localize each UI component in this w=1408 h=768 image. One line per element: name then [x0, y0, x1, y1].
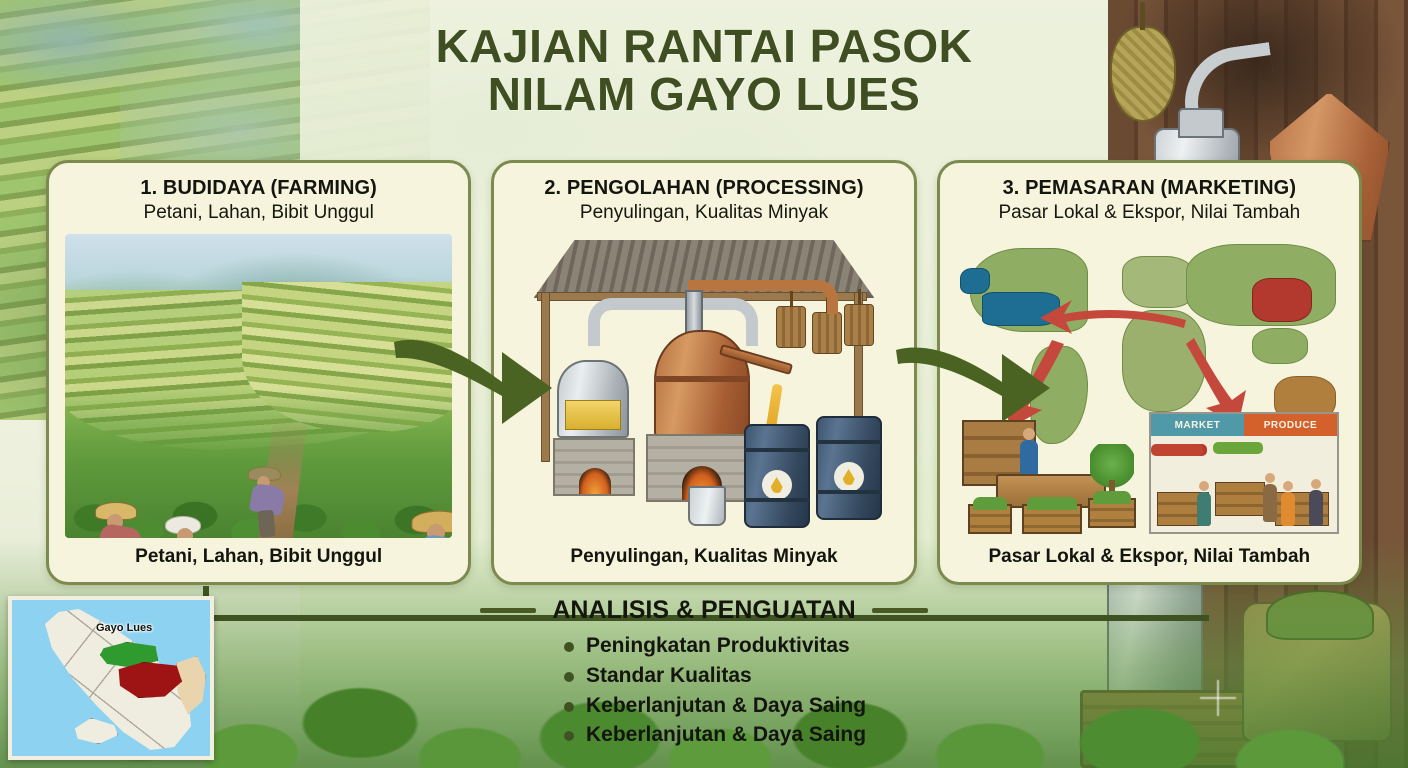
analysis-heading: ANALISIS & PENGUATAN	[480, 596, 927, 625]
map-inset-gayo-lues: Gayo Lues	[8, 596, 214, 760]
map-region-label: Gayo Lues	[96, 622, 152, 634]
rule-right-icon	[872, 608, 928, 613]
vendor-figure	[1020, 440, 1038, 476]
shopper-figure	[1309, 490, 1323, 526]
analysis-bullet-list: Peningkatan Produktivitas Standar Kualit…	[504, 631, 904, 750]
page-title: KAJIAN RANTAI PASOK NILAM GAYO LUES	[0, 22, 1408, 119]
arrow-processing-to-marketing	[892, 330, 1056, 430]
market-sign-right: PRODUCE	[1244, 414, 1337, 436]
arrow-farming-to-processing	[386, 326, 558, 438]
shopper-figure	[1281, 492, 1295, 526]
stage-title-pemasaran: 3. PEMASARAN (MARKETING)	[952, 177, 1347, 200]
stage-title-pengolahan: 2. PENGOLAHAN (PROCESSING)	[506, 177, 901, 200]
copper-pipe	[688, 280, 838, 314]
metal-bucket-icon	[688, 486, 726, 526]
hanging-barrel-icon	[844, 304, 874, 346]
list-item: Keberlanjutan & Daya Saing	[562, 720, 904, 750]
stage-caption-pemasaran: Pasar Lokal & Ekspor, Nilai Tambah	[952, 546, 1347, 572]
stage-caption-budidaya: Petani, Lahan, Bibit Unggul	[61, 546, 456, 572]
rule-left-icon	[480, 608, 536, 613]
oil-drum	[816, 416, 882, 520]
stage-subtitle-pengolahan: Penyulingan, Kualitas Minyak	[506, 202, 901, 224]
oil-drum	[744, 424, 810, 528]
analysis-heading-label: ANALISIS & PENGUATAN	[552, 596, 855, 625]
tree-icon	[1090, 444, 1134, 488]
market-sign-right-label: PRODUCE	[1244, 414, 1337, 436]
infographic-poster: KAJIAN RANTAI PASOK NILAM GAYO LUES 1. B…	[0, 0, 1408, 768]
list-item: Keberlanjutan & Daya Saing	[562, 691, 904, 721]
market-sign-left: MARKET	[1151, 414, 1244, 436]
tank-furnace	[553, 438, 635, 496]
oil-drop-icon	[762, 470, 792, 500]
copper-still	[654, 330, 750, 440]
supply-chain-stages: 1. BUDIDAYA (FARMING) Petani, Lahan, Bib…	[46, 160, 1362, 585]
local-shop-scene	[962, 414, 1142, 534]
stage-illustration-pengolahan	[510, 234, 897, 538]
market-sign-left-label: MARKET	[1151, 414, 1244, 436]
shopper-figure	[1197, 492, 1211, 526]
stage-caption-pengolahan: Penyulingan, Kualitas Minyak	[506, 546, 901, 572]
stage-subtitle-budidaya: Petani, Lahan, Bibit Unggul	[61, 202, 456, 224]
stage-subtitle-pemasaran: Pasar Lokal & Ekspor, Nilai Tambah	[952, 202, 1347, 224]
oil-collection-tank	[557, 360, 629, 438]
shopper-figure	[1263, 484, 1277, 522]
market-scene: MARKET PRODUCE	[1149, 412, 1339, 534]
stage-title-budidaya: 1. BUDIDAYA (FARMING)	[61, 177, 456, 200]
list-item: Standar Kualitas	[562, 661, 904, 691]
hanging-basket-icon	[812, 312, 842, 354]
list-item: Peningkatan Produktivitas	[562, 631, 904, 661]
oil-drop-icon	[834, 462, 864, 492]
title-line-1: KAJIAN RANTAI PASOK	[436, 20, 973, 72]
title-line-2: NILAM GAYO LUES	[0, 70, 1408, 118]
